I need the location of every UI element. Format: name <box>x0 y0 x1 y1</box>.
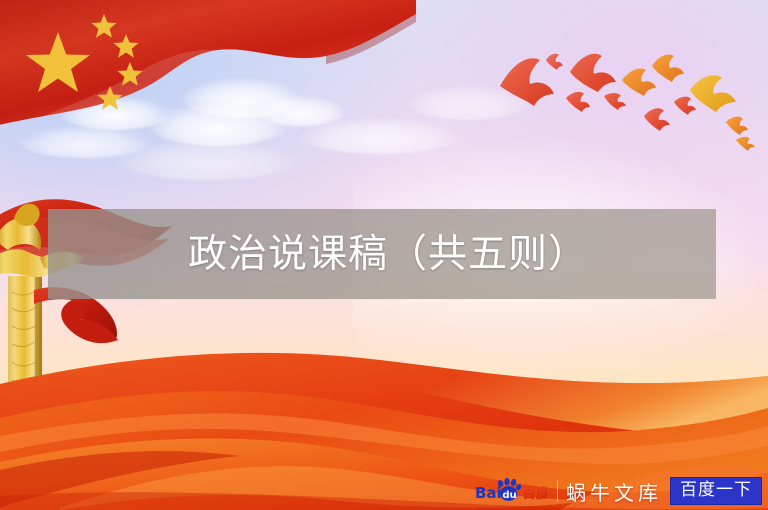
bird <box>726 117 748 135</box>
bird <box>566 92 590 112</box>
bird <box>500 58 554 106</box>
page-title: 政治说课稿（共五则） <box>188 235 588 274</box>
chinese-national-flag <box>0 0 416 138</box>
white-clouds <box>118 140 298 180</box>
baidu-cn-wordmark: 百度 <box>522 485 547 502</box>
bird <box>736 137 755 151</box>
site-brand-label: 蜗牛文库 <box>566 477 670 506</box>
svg-text:du: du <box>502 490 516 501</box>
baidu-logo[interactable]: Bai du 百度 <box>475 478 547 504</box>
flying-doves <box>488 46 768 164</box>
watermark-bar: Bai du 百度 蜗牛文库 百度一下 <box>475 476 762 506</box>
bird <box>644 108 670 131</box>
baidu-search-button[interactable]: 百度一下 <box>670 477 762 506</box>
cover-image: 政治说课稿（共五则） Bai <box>0 0 768 510</box>
bird <box>570 54 616 92</box>
bird <box>690 75 736 112</box>
watermark-divider <box>557 480 558 502</box>
svg-text:Bai: Bai <box>475 484 502 502</box>
bird <box>546 54 563 70</box>
bird <box>652 54 684 82</box>
title-overlay-band: 政治说课稿（共五则） <box>48 209 716 299</box>
bird <box>604 93 626 110</box>
bird <box>622 68 656 96</box>
bird <box>674 97 696 115</box>
